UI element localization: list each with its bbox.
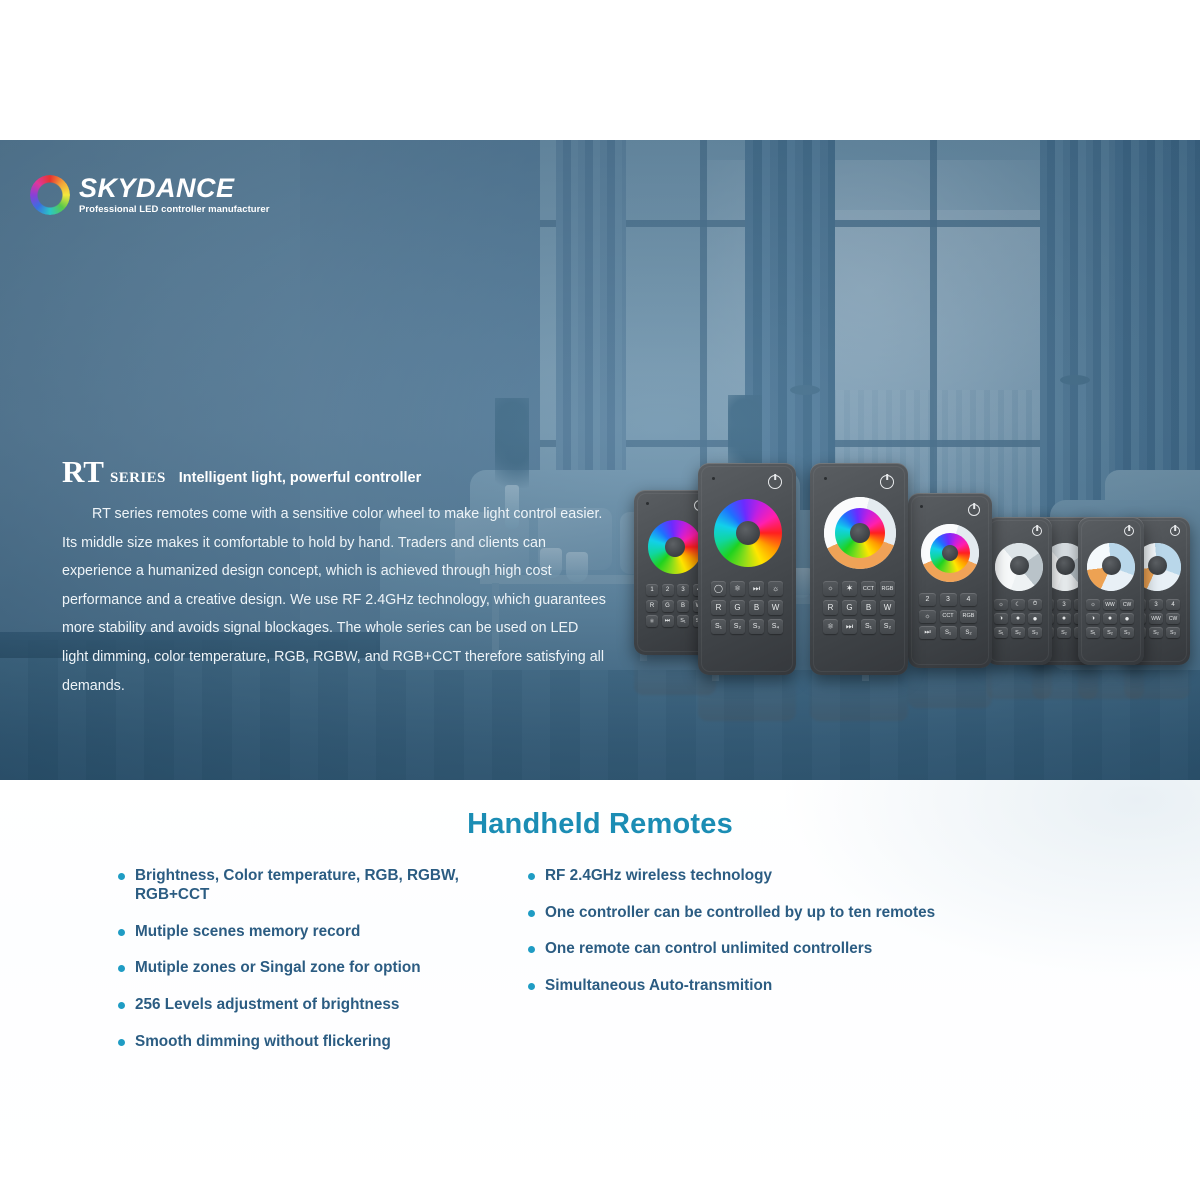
sun-icon[interactable]: ☼ xyxy=(919,610,936,623)
feature-text: Brightness, Color temperature, RGB, RGBW… xyxy=(135,866,520,904)
moon-icon[interactable]: ☾ xyxy=(1011,599,1025,610)
feature-text: 256 Levels adjustment of brightness xyxy=(135,995,399,1014)
key-green[interactable]: G xyxy=(730,600,745,615)
bullet-dot-icon xyxy=(528,873,535,880)
feature-text: Mutiple scenes memory record xyxy=(135,922,360,941)
list-item: Brightness, Color temperature, RGB, RGBW… xyxy=(118,866,520,904)
key-cct[interactable]: CCT xyxy=(861,581,876,596)
play-icon[interactable]: ⏭ xyxy=(662,615,674,627)
key-zone-4[interactable]: 4 xyxy=(960,593,977,606)
series-heading: RT SERIES Intelligent light, powerful co… xyxy=(62,456,607,487)
list-item: One controller can be controlled by up t… xyxy=(528,903,1080,922)
dot-icon[interactable]: ● xyxy=(1011,613,1025,624)
sun-dim-icon[interactable]: ☼ xyxy=(823,581,838,596)
timer-icon[interactable]: ⏱ xyxy=(1028,599,1042,610)
feature-text: Mutiple zones or Singal zone for option xyxy=(135,958,421,977)
bullet-dot-icon xyxy=(528,946,535,953)
dot-icon[interactable]: ● xyxy=(1120,613,1134,624)
feature-text: One controller can be controlled by up t… xyxy=(545,903,935,922)
key-scene-3[interactable]: S₃ xyxy=(1028,627,1042,638)
key-scene-1[interactable]: S₁ xyxy=(1086,627,1100,638)
remote-rt3[interactable]: ☼ ✶ CCT RGB R G B W ⚛ ⏭ S₁ S₂ xyxy=(810,463,908,675)
key-scene-3[interactable]: S₃ xyxy=(1120,627,1134,638)
keypad[interactable]: 2 3 4 ☼ CCT RGB ⏭ S₁ S₂ xyxy=(919,593,981,639)
sun-bright-icon[interactable]: ✶ xyxy=(842,581,857,596)
key-scene-3[interactable]: S₃ xyxy=(1166,627,1180,638)
key-blue[interactable]: B xyxy=(861,600,876,615)
feature-column-left: Brightness, Color temperature, RGB, RGBW… xyxy=(0,866,520,1068)
key-scene-2[interactable]: S₂ xyxy=(880,619,895,634)
list-item: 256 Levels adjustment of brightness xyxy=(118,995,520,1014)
list-item: Smooth dimming without flickering xyxy=(118,1032,520,1051)
power-icon[interactable] xyxy=(880,475,894,489)
product-page: SKYDANCE Professional LED controller man… xyxy=(0,0,1200,1200)
power-icon[interactable] xyxy=(1124,526,1134,536)
key-rgb[interactable]: RGB xyxy=(880,581,895,596)
keypad[interactable]: ◯ ⚛ ⏭ ☼ R G B W S₁ S₂ S₃ S₄ xyxy=(711,581,783,634)
color-wheel[interactable] xyxy=(648,520,702,574)
rainbow-ring-icon xyxy=(30,175,70,215)
key-green[interactable]: G xyxy=(662,600,674,612)
key-blue[interactable]: B xyxy=(749,600,764,615)
sun-icon[interactable]: ☼ xyxy=(768,581,783,596)
palette-icon[interactable]: ⚛ xyxy=(646,615,658,627)
feature-text: Simultaneous Auto-transmition xyxy=(545,976,772,995)
key-zone-2[interactable]: 2 xyxy=(919,593,936,606)
play-icon[interactable]: ⏭ xyxy=(749,581,764,596)
section-title: Handheld Remotes xyxy=(0,808,1200,841)
keypad[interactable]: ☼ ✶ CCT RGB R G B W ⚛ ⏭ S₁ S₂ xyxy=(823,581,895,634)
feature-text: One remote can control unlimited control… xyxy=(545,939,872,958)
palette-icon[interactable]: ⚛ xyxy=(823,619,838,634)
key-ww[interactable]: WW xyxy=(1149,613,1163,624)
key-zone-3[interactable]: 3 xyxy=(1149,599,1163,610)
key-scene-1[interactable]: S₁ xyxy=(711,619,726,634)
key-scene-4[interactable]: S₄ xyxy=(768,619,783,634)
feature-columns: Brightness, Color temperature, RGB, RGBW… xyxy=(0,866,1200,1068)
keypad[interactable]: 1 2 3 4 R G B W ⚛ ⏭ S₁ S₂ xyxy=(646,584,704,627)
sun-icon[interactable]: ☼ xyxy=(994,599,1008,610)
color-wheel[interactable] xyxy=(835,508,885,558)
palette-icon[interactable]: ⚛ xyxy=(730,581,745,596)
play-icon[interactable]: ⏭ xyxy=(842,619,857,634)
key-white[interactable]: W xyxy=(880,600,895,615)
dimmer-wheel[interactable] xyxy=(995,543,1043,591)
series-tagline: Intelligent light, powerful controller xyxy=(179,470,421,486)
key-scene-2[interactable]: S₂ xyxy=(730,619,745,634)
remote-rt5[interactable]: ☼ ☾ ⏱ ◑ ● ● S₁ S₂ S₃ xyxy=(986,517,1052,665)
brand-logo[interactable]: SKYDANCE Professional LED controller man… xyxy=(30,175,269,215)
power-icon[interactable] xyxy=(1170,526,1180,536)
key-scene-1[interactable]: S₁ xyxy=(940,626,957,639)
cct-wheel[interactable] xyxy=(1087,543,1135,591)
list-item: One remote can control unlimited control… xyxy=(528,939,1080,958)
key-blue[interactable]: B xyxy=(677,600,689,612)
feature-text: RF 2.4GHz wireless technology xyxy=(545,866,772,885)
list-item: RF 2.4GHz wireless technology xyxy=(528,866,1080,885)
power-icon[interactable] xyxy=(968,504,980,516)
key-scene-2[interactable]: S₂ xyxy=(1103,627,1117,638)
series-word: SERIES xyxy=(110,470,166,487)
list-item: Simultaneous Auto-transmition xyxy=(528,976,1080,995)
key-zone-3[interactable]: 3 xyxy=(677,584,689,596)
key-scene-2[interactable]: S₂ xyxy=(1011,627,1025,638)
key-scene-2[interactable]: S₂ xyxy=(1057,627,1071,638)
play-icon[interactable]: ⏭ xyxy=(919,626,936,639)
key-scene-1[interactable]: S₁ xyxy=(994,627,1008,638)
feature-text: Smooth dimming without flickering xyxy=(135,1032,391,1051)
key-rgb[interactable]: RGB xyxy=(960,610,977,623)
feature-column-right: RF 2.4GHz wireless technology One contro… xyxy=(520,866,1080,1068)
bullet-dot-icon xyxy=(528,910,535,917)
list-item: Mutiple scenes memory record xyxy=(118,922,520,941)
half-icon[interactable]: ◑ xyxy=(994,613,1008,624)
hero-copy: RT SERIES Intelligent light, powerful co… xyxy=(62,456,607,700)
key-zone-2[interactable]: 2 xyxy=(662,584,674,596)
bullet-dot-icon xyxy=(528,983,535,990)
sun-icon[interactable]: ☼ xyxy=(1086,599,1100,610)
key-scene-3[interactable]: S₃ xyxy=(749,619,764,634)
keypad[interactable]: ☼ WW CW ◑ ● ● S₁ S₂ S₃ xyxy=(1086,599,1136,638)
key-scene-1[interactable]: S₁ xyxy=(861,619,876,634)
key-red[interactable]: R xyxy=(823,600,838,615)
cct-outer-ring xyxy=(824,497,896,569)
power-icon[interactable] xyxy=(768,475,782,489)
brand-name: SKYDANCE xyxy=(79,175,269,202)
key-ww[interactable]: WW xyxy=(1103,599,1117,610)
dot-icon[interactable]: ● xyxy=(1057,613,1071,624)
bullet-dot-icon xyxy=(118,873,125,880)
key-zone-4[interactable]: 4 xyxy=(1166,599,1180,610)
bullet-dot-icon xyxy=(118,1039,125,1046)
key-scene-1[interactable]: S₁ xyxy=(677,615,689,627)
key-scene-2[interactable]: S₂ xyxy=(1149,627,1163,638)
list-item: Mutiple zones or Singal zone for option xyxy=(118,958,520,977)
color-wheel[interactable] xyxy=(714,499,782,567)
remote-rt7[interactable]: ☼ WW CW ◑ ● ● S₁ S₂ S₃ xyxy=(1078,517,1144,665)
dot-icon[interactable]: ● xyxy=(1103,613,1117,624)
circle-icon[interactable]: ◯ xyxy=(711,581,726,596)
key-green[interactable]: G xyxy=(842,600,857,615)
key-zone-1[interactable]: 1 xyxy=(646,584,658,596)
color-wheel[interactable] xyxy=(930,533,970,573)
keypad[interactable]: ☼ ☾ ⏱ ◑ ● ● S₁ S₂ S₃ xyxy=(994,599,1044,638)
power-icon[interactable] xyxy=(1032,526,1042,536)
key-cw[interactable]: CW xyxy=(1120,599,1134,610)
key-zone-3[interactable]: 3 xyxy=(1057,599,1071,610)
key-cct[interactable]: CCT xyxy=(940,610,957,623)
key-red[interactable]: R xyxy=(646,600,658,612)
brand-tagline: Professional LED controller manufacturer xyxy=(79,205,269,215)
key-white[interactable]: W xyxy=(768,600,783,615)
hero-paragraph: RT series remotes come with a sensitive … xyxy=(62,500,607,700)
half-icon[interactable]: ◑ xyxy=(1086,613,1100,624)
remote-rt2[interactable]: ◯ ⚛ ⏭ ☼ R G B W S₁ S₂ S₃ S₄ xyxy=(698,463,796,675)
remote-rt4[interactable]: 2 3 4 ☼ CCT RGB ⏭ S₁ S₂ xyxy=(908,493,992,668)
bullet-dot-icon xyxy=(118,929,125,936)
cct-outer-ring xyxy=(921,524,979,582)
key-cw[interactable]: CW xyxy=(1166,613,1180,624)
key-zone-3[interactable]: 3 xyxy=(940,593,957,606)
series-mark: RT xyxy=(62,456,104,487)
key-scene-2[interactable]: S₂ xyxy=(960,626,977,639)
key-red[interactable]: R xyxy=(711,600,726,615)
dot-icon[interactable]: ● xyxy=(1028,613,1042,624)
remote-lineup: 1 2 3 4 R G B W ⚛ ⏭ S₁ S₂ ◯ xyxy=(620,455,1180,715)
bullet-dot-icon xyxy=(118,1002,125,1009)
bullet-dot-icon xyxy=(118,965,125,972)
